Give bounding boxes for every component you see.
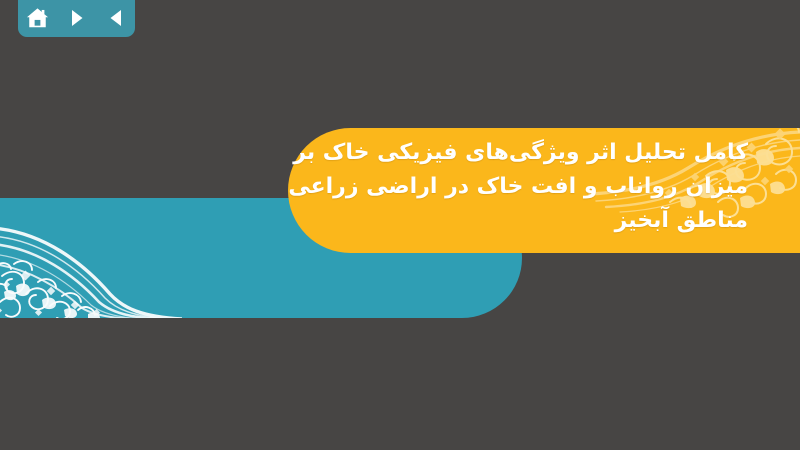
title-line-1: کامل تحلیل اثر ویژگی‌های فیزیکی خاک بر [318, 136, 748, 170]
previous-button[interactable] [101, 5, 131, 31]
home-icon [26, 7, 49, 29]
triangle-left-icon [106, 8, 126, 28]
title-line-3: مناطق آبخیز [318, 204, 748, 238]
arabesque-corner-ornament [0, 198, 182, 318]
next-button[interactable] [62, 5, 92, 31]
title-line-2: میزان رواناب و افت خاک در اراضی زراعی [318, 170, 748, 204]
slide-title: کامل تحلیل اثر ویژگی‌های فیزیکی خاک بر م… [318, 136, 748, 238]
triangle-right-icon [67, 8, 87, 28]
navigation-bar [18, 0, 135, 37]
slide-canvas: کامل تحلیل اثر ویژگی‌های فیزیکی خاک بر م… [0, 0, 800, 450]
home-button[interactable] [23, 5, 53, 31]
